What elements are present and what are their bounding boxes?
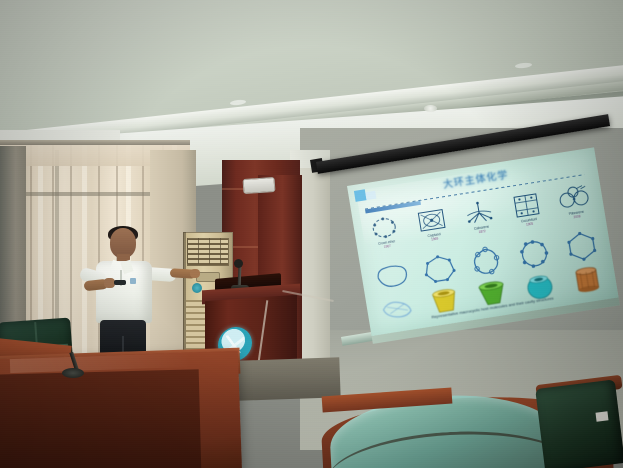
conference-table-front [0, 369, 201, 468]
wall-speaker [243, 177, 276, 194]
chair-label-tag [595, 411, 608, 421]
recessed-downlight-icon [424, 105, 437, 112]
chair-right[interactable] [535, 379, 623, 468]
presenter-right-hand [190, 269, 200, 278]
presentation-clicker[interactable] [114, 280, 126, 285]
microphone-icon [234, 259, 243, 268]
slide-logo-icon [354, 189, 367, 202]
structure-item: Cryptand 1969 [410, 204, 456, 250]
presenter-shirt-logo-icon [130, 278, 136, 284]
window-frame-rail [20, 192, 150, 196]
structure-item: Pillararene 2008 [552, 182, 598, 228]
table-microphone-base[interactable] [62, 368, 84, 378]
slide-logo-accent-icon [365, 191, 376, 200]
conference-room-screenshot: 大环主体化学 Crown ether 1967 [0, 0, 623, 468]
structure-item: Crown ether 1967 [362, 212, 408, 258]
structure-item: Calixarene 1872 [457, 197, 503, 243]
curtain-rod [0, 140, 190, 145]
structure-item: Cucurbituril 1905 [505, 190, 551, 236]
